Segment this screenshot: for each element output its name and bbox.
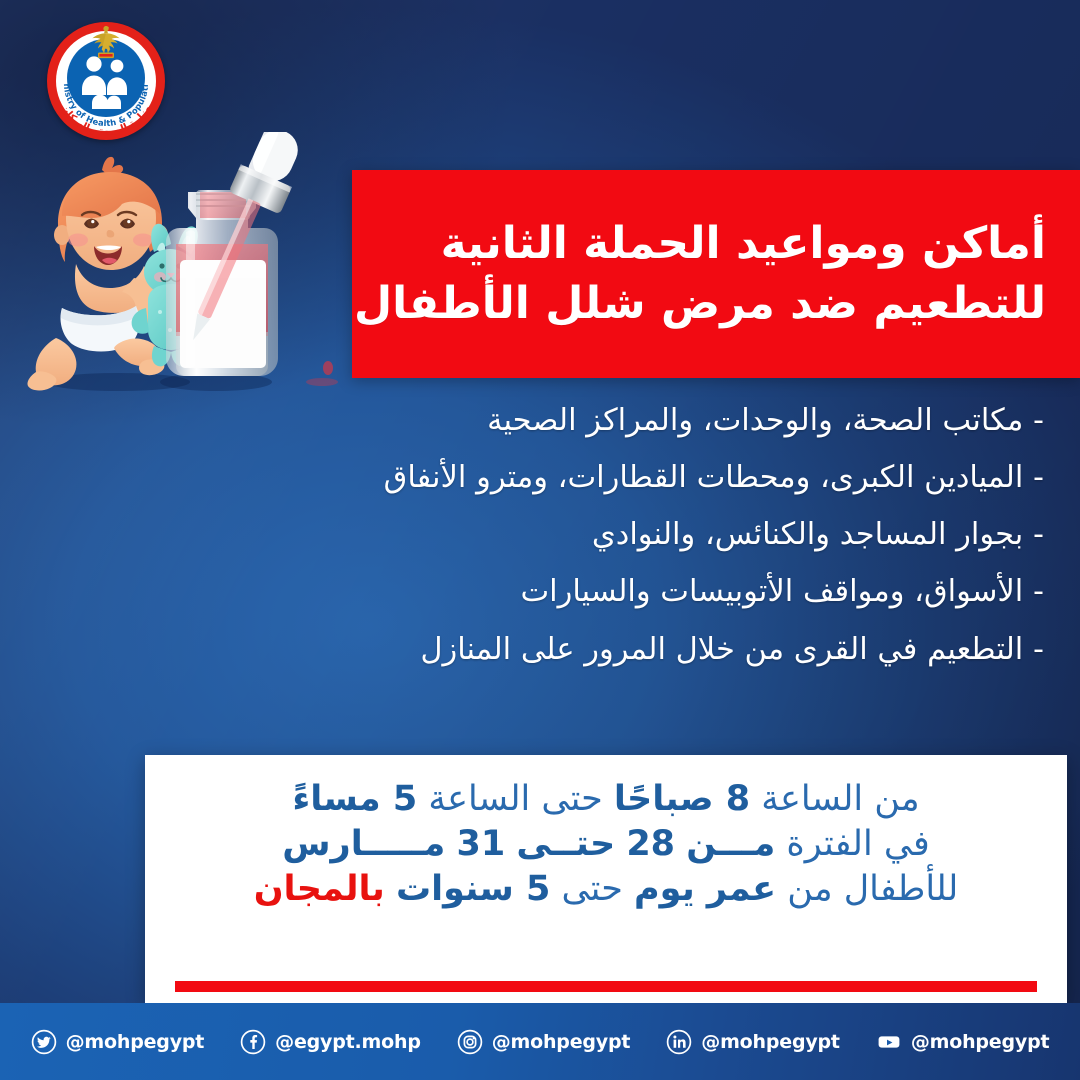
social-instagram[interactable]: @mohpegypt xyxy=(457,1029,631,1055)
eligibility-free-badge: بالمجان xyxy=(254,869,385,909)
card-red-rule xyxy=(175,981,1037,992)
facebook-icon xyxy=(240,1029,266,1055)
period-day-from: 28 xyxy=(626,824,675,864)
period-month: مـــــارس xyxy=(282,824,445,864)
instagram-icon xyxy=(457,1029,483,1055)
list-item: - الميادين الكبرى، ومحطات القطارات، ومتر… xyxy=(324,461,1044,495)
twitter-icon xyxy=(31,1029,57,1055)
list-item: - التطعيم في القرى من خلال المرور على ال… xyxy=(324,633,1044,667)
list-item: - مكاتب الصحة، والوحدات، والمراكز الصحية xyxy=(324,404,1044,438)
poster-canvas: Ministry of Health & Population وزارة ال… xyxy=(0,0,1080,1080)
period-line: في الفترة مـــن 28 حتــى 31 مـــــارس xyxy=(175,822,1037,867)
linkedin-handle: @mohpegypt xyxy=(701,1031,840,1053)
social-footer: @mohpegypt @egypt.mohp @mohpegypt xyxy=(0,1003,1080,1080)
hours-middle: حتى الساعة xyxy=(428,779,602,819)
list-item: - بجوار المساجد والكنائس، والنوادي xyxy=(324,518,1044,552)
period-from: مـــن xyxy=(686,824,775,864)
eligibility-line: للأطفال من عمر يوم حتى 5 سنوات بالمجان xyxy=(175,867,1037,912)
list-item: - الأسواق، ومواقف الأتوبيسات والسيارات xyxy=(324,575,1044,609)
hours-prefix: من الساعة xyxy=(761,779,919,819)
period-until: حتــى xyxy=(516,824,615,864)
social-facebook[interactable]: @egypt.mohp xyxy=(240,1029,421,1055)
hours-end: 5 مساءً xyxy=(292,779,417,819)
title-banner: أماكن ومواعيد الحملة الثانية للتطعيم ضد … xyxy=(352,170,1080,378)
hours-line: من الساعة 8 صباحًا حتى الساعة 5 مساءً xyxy=(175,777,1037,822)
illustration-baby-and-vaccine xyxy=(10,132,340,394)
schedule-info-card: من الساعة 8 صباحًا حتى الساعة 5 مساءً في… xyxy=(145,755,1067,1003)
hours-start: 8 صباحًا xyxy=(614,779,750,819)
title-line-2: للتطعيم ضد مرض شلل الأطفال xyxy=(374,277,1046,331)
facebook-handle: @egypt.mohp xyxy=(275,1031,421,1053)
ministry-logo: Ministry of Health & Population وزارة ال… xyxy=(47,22,165,140)
linkedin-icon xyxy=(666,1029,692,1055)
period-day-to: 31 xyxy=(456,824,505,864)
eligibility-middle: حتى xyxy=(561,869,622,909)
period-prefix: في الفترة xyxy=(786,824,929,864)
youtube-icon xyxy=(876,1029,902,1055)
instagram-handle: @mohpegypt xyxy=(492,1031,631,1053)
eligibility-prefix: للأطفال من xyxy=(787,869,958,909)
twitter-handle: @mohpegypt xyxy=(66,1031,205,1053)
youtube-handle: @mohpegypt xyxy=(911,1031,1050,1053)
eagle-of-saladin-icon xyxy=(83,20,129,66)
eligibility-age: عمر يوم xyxy=(634,869,776,909)
eligibility-years: 5 سنوات xyxy=(396,869,550,909)
social-youtube[interactable]: @mohpegypt xyxy=(876,1029,1050,1055)
locations-list: - مكاتب الصحة، والوحدات، والمراكز الصحية… xyxy=(324,404,1044,667)
social-linkedin[interactable]: @mohpegypt xyxy=(666,1029,840,1055)
title-line-1: أماكن ومواعيد الحملة الثانية xyxy=(374,217,1046,271)
social-twitter[interactable]: @mohpegypt xyxy=(31,1029,205,1055)
